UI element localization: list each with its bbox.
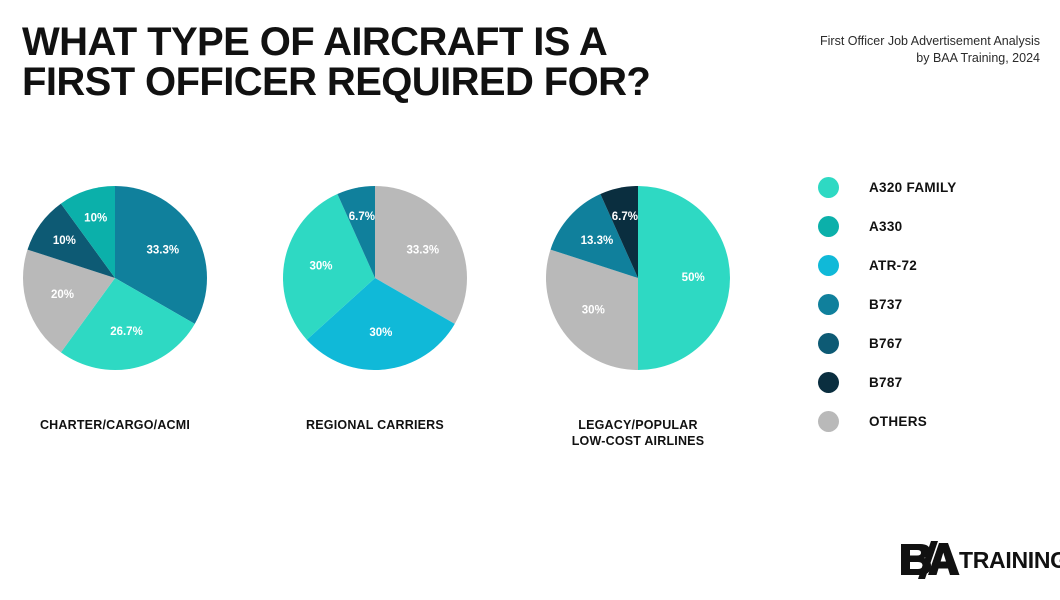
pie-caption-2: REGIONAL CARRIERS [245,418,505,434]
legend-item-atr-72[interactable]: ATR-72 [818,246,957,285]
subtitle-line-2: by BAA Training, 2024 [740,50,1040,67]
legend-item-label: B767 [869,336,902,351]
legend-swatch-icon [818,255,839,276]
pie-slice-label: 26.7% [110,326,143,338]
pie-slice-label: 30% [309,261,332,273]
legend-swatch-icon [818,294,839,315]
pie-chart-svg: 33.3%30%30%6.7% [277,180,473,376]
legend-item-label: A320 FAMILY [869,180,957,195]
legend-item-b737[interactable]: B737 [818,285,957,324]
page-title: WHAT TYPE OF AIRCRAFT IS A FIRST OFFICER… [22,22,702,102]
legend-item-b767[interactable]: B767 [818,324,957,363]
subtitle-line-1: First Officer Job Advertisement Analysis [740,33,1040,50]
legend-swatch-icon [818,177,839,198]
pie-caption-3: LEGACY/POPULARLOW-COST AIRLINES [508,418,768,449]
pie-slice-label: 50% [682,272,705,284]
infographic-root: WHAT TYPE OF AIRCRAFT IS A FIRST OFFICER… [0,0,1060,600]
legend-item-label: A330 [869,219,902,234]
pie-slice-label: 6.7% [349,211,375,223]
pie-chart-1: 33.3%26.7%20%10%10% [17,180,213,376]
pie-slice-label: 6.7% [612,211,638,223]
pie-chart-3: 50%30%13.3%6.7% [540,180,736,376]
pie-slice-label: 30% [369,327,392,339]
pie-slice-label: 20% [51,289,74,301]
logo-wordmark: TRAINING [959,547,1060,574]
legend-item-b787[interactable]: B787 [818,363,957,402]
legend-item-label: OTHERS [869,414,927,429]
legend-swatch-icon [818,372,839,393]
pie-caption-line: LEGACY/POPULAR [508,418,768,434]
pie-caption-line: REGIONAL CARRIERS [245,418,505,434]
pie-chart-2: 33.3%30%30%6.7% [277,180,473,376]
pie-slice-label: 33.3% [146,244,179,256]
legend-item-label: B737 [869,297,902,312]
legend-item-a330[interactable]: A330 [818,207,957,246]
pie-caption-line: CHARTER/CARGO/ACMI [0,418,245,434]
legend-swatch-icon [818,411,839,432]
pie-slice-label: 33.3% [406,244,439,256]
legend-item-label: B787 [869,375,902,390]
pie-slice-label: 13.3% [581,235,614,247]
pie-caption-1: CHARTER/CARGO/ACMI [0,418,245,434]
subtitle: First Officer Job Advertisement Analysis… [740,33,1040,67]
baa-monogram-icon [898,538,962,582]
pie-caption-line: LOW-COST AIRLINES [508,434,768,450]
legend: A320 FAMILYA330ATR-72B737B767B787OTHERS [818,168,957,441]
pie-slice-label: 10% [53,235,76,247]
pie-slice-label: 30% [582,304,605,316]
baa-training-logo: TRAINING [898,538,1060,582]
pie-chart-svg: 33.3%26.7%20%10%10% [17,180,213,376]
page-title-line-1: WHAT TYPE OF AIRCRAFT IS A [22,22,702,62]
legend-swatch-icon [818,216,839,237]
page-title-line-2: FIRST OFFICER REQUIRED FOR? [22,62,702,102]
legend-item-others[interactable]: OTHERS [818,402,957,441]
pie-chart-svg: 50%30%13.3%6.7% [540,180,736,376]
pie-slice-label: 10% [84,213,107,225]
legend-item-a320-family[interactable]: A320 FAMILY [818,168,957,207]
legend-item-label: ATR-72 [869,258,917,273]
legend-swatch-icon [818,333,839,354]
